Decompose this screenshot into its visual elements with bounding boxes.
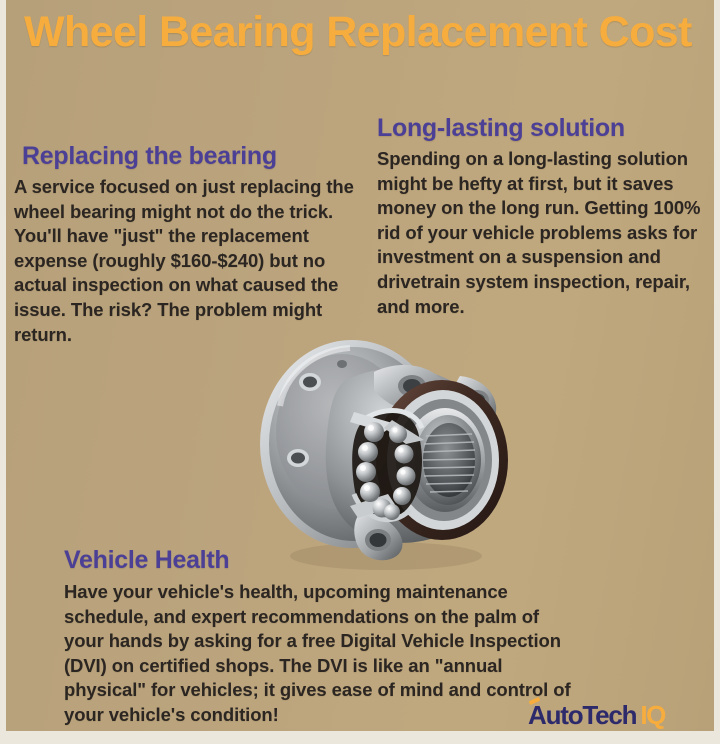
splined-shaft (415, 415, 481, 505)
section-body-long-lasting-solution: Spending on a long-lasting solution migh… (377, 147, 707, 319)
wheel-bearing-hub-image (246, 328, 526, 576)
page-title: Wheel Bearing Replacement Cost (24, 8, 704, 57)
left-border-strip (0, 0, 6, 744)
section-heading-replacing-the-bearing: Replacing the bearing (22, 142, 277, 170)
right-border-strip (714, 0, 720, 744)
section-heading-long-lasting-solution: Long-lasting solution (377, 114, 625, 142)
section-body-replacing-the-bearing: A service focused on just replacing the … (14, 175, 354, 347)
section-body-vehicle-health: Have your vehicle's health, upcoming mai… (64, 580, 574, 728)
logo-accent-text: IQ (640, 702, 664, 728)
section-heading-vehicle-health: Vehicle Health (64, 546, 229, 574)
wheel-bearing-hub-illustration (246, 328, 526, 576)
bottom-border-strip (0, 731, 720, 744)
autotechiq-logo[interactable]: AutoTech IQ (528, 700, 665, 730)
logo-primary-text: AutoTech (528, 702, 636, 728)
infographic-canvas: Wheel Bearing Replacement Cost Replacing… (0, 0, 720, 744)
